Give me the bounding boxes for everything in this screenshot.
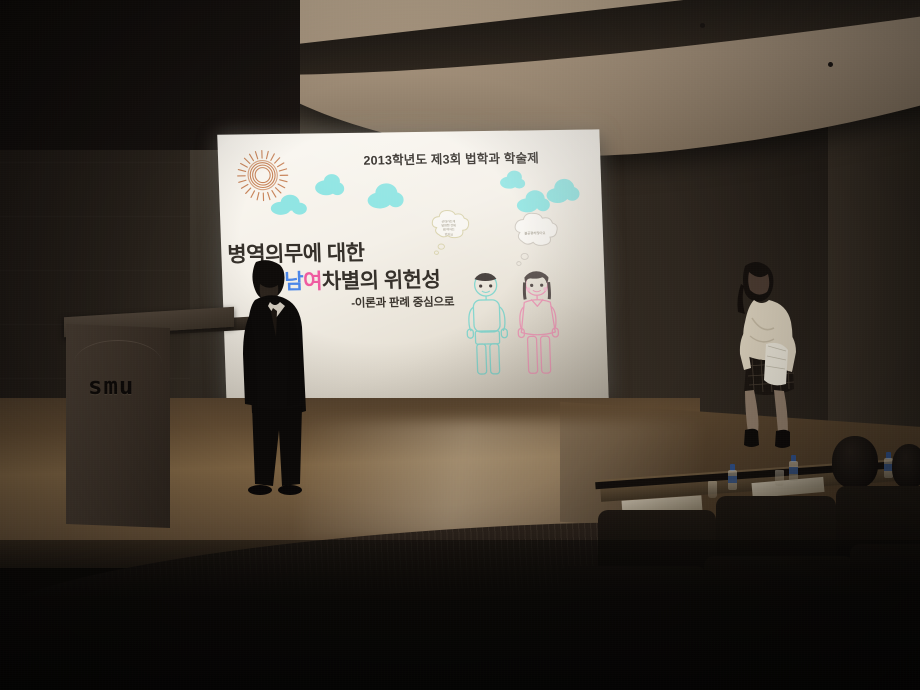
audience-head	[892, 444, 920, 488]
thought-bubble-left-text: 군대가는게 당연한 건데 왜 여자는 안가요	[435, 219, 462, 236]
male-presenter	[228, 258, 314, 513]
female-assistant	[716, 258, 806, 459]
bottle-label	[728, 476, 737, 483]
cloud-decoration	[500, 177, 518, 189]
audience-head	[832, 436, 878, 488]
cloud-decoration	[546, 188, 569, 203]
slide-header: 2013학년도 제3회 법학과 학술제	[336, 147, 567, 169]
female-stick-figure-icon	[512, 270, 564, 386]
ceiling-fixture-icon	[700, 23, 705, 28]
drinking-glass	[708, 481, 717, 498]
water-bottle	[728, 464, 737, 494]
title-line2-rest: 차별의 위헌성	[322, 269, 441, 294]
cloud-decoration	[367, 192, 392, 208]
ceiling-fixture-icon	[828, 62, 833, 67]
male-stick-figure-icon	[461, 271, 513, 387]
drinking-glass	[775, 470, 784, 486]
cloud-decoration	[271, 202, 291, 215]
water-bottle	[789, 455, 798, 485]
foreground-shadow	[0, 540, 920, 690]
podium-brand-logo: smu	[88, 372, 134, 400]
bottle-label	[789, 467, 798, 474]
cloud-decoration	[315, 180, 338, 195]
auditorium-scene: 2013학년도 제3회 법학과 학술제	[0, 0, 920, 690]
sun-starburst-icon	[235, 148, 291, 203]
cloud-decoration	[517, 198, 538, 212]
